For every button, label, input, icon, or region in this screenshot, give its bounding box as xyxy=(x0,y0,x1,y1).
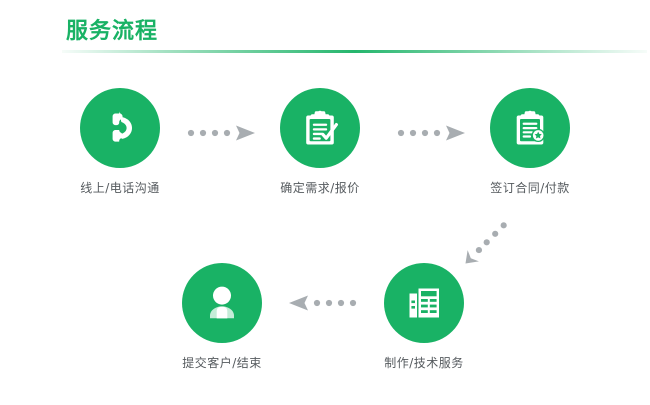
flow-node-circle xyxy=(80,88,160,168)
flow-node-circle xyxy=(182,263,262,343)
page-title: 服务流程 xyxy=(66,18,158,46)
title-divider xyxy=(62,50,647,53)
flow-node-deliver-client[interactable]: 提交客户/结束 xyxy=(147,263,297,371)
connector-arrow-down-left xyxy=(455,212,517,274)
flow-node-label: 确定需求/报价 xyxy=(245,180,395,196)
flow-node-sign-contract[interactable]: 签订合同/付款 xyxy=(455,88,605,196)
flow-node-online-communication[interactable]: 线上/电话沟通 xyxy=(45,88,195,196)
flow-node-label: 提交客户/结束 xyxy=(147,355,297,371)
connector-arrow-right-2 xyxy=(396,122,468,144)
flow-node-circle xyxy=(490,88,570,168)
flow-node-confirm-requirement[interactable]: 确定需求/报价 xyxy=(245,88,395,196)
connector-arrow-left xyxy=(286,292,358,314)
page-header: 服务流程 xyxy=(0,0,650,60)
flow-node-label: 制作/技术服务 xyxy=(349,355,499,371)
connector-arrow-right-1 xyxy=(186,122,258,144)
flow-node-technical-service[interactable]: 制作/技术服务 xyxy=(349,263,499,371)
flow-node-label: 签订合同/付款 xyxy=(455,180,605,196)
flow-node-label: 线上/电话沟通 xyxy=(45,180,195,196)
flow-node-circle xyxy=(280,88,360,168)
flow-node-circle xyxy=(384,263,464,343)
